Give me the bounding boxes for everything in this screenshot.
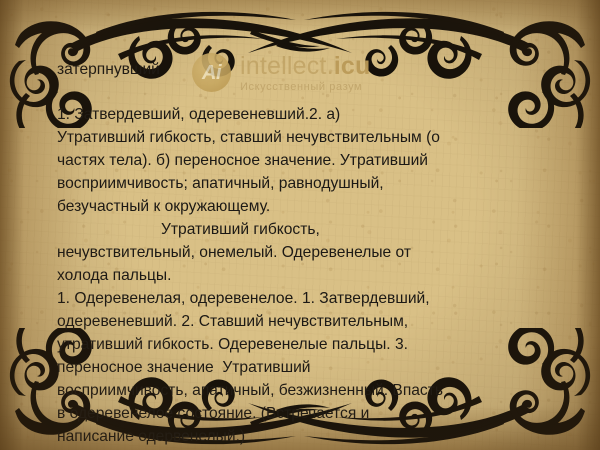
document-page: Ai intellect.icu Искусственный разум зат… [0,0,600,450]
page-vignette [0,0,600,450]
